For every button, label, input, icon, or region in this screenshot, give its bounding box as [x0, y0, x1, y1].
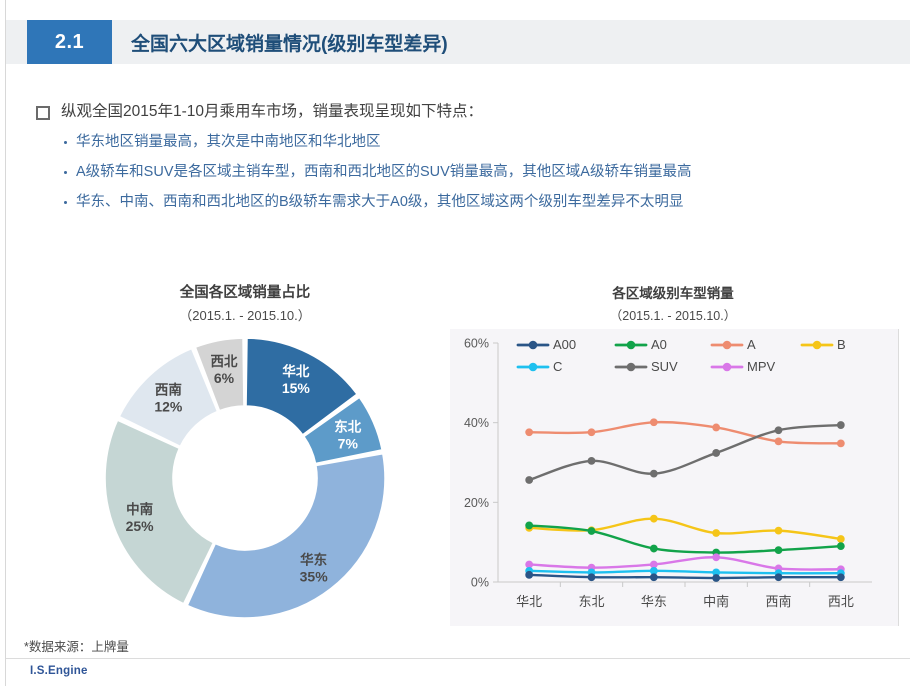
x-tick-label-西南: 西南	[765, 594, 791, 609]
sub-bullet-2-text: A级轿车和SUV是各区域主销车型，西南和西北地区的SUV销量最高，其他区域A级轿…	[76, 162, 691, 183]
x-tick-label-华北: 华北	[516, 594, 542, 609]
line-chart-title: 各区域级别车型销量	[448, 282, 898, 302]
legend-item-B[interactable]: B	[802, 337, 846, 352]
donut-label-中南: 中南25%	[126, 501, 155, 534]
legend-item-A[interactable]: A	[712, 337, 756, 352]
line-chart-plot-area: 0%20%40%60%华北东北华东中南西南西北A00A0ABCSUVMPV	[450, 329, 899, 626]
legend-item-SUV[interactable]: SUV	[616, 359, 678, 374]
dot-bullet-icon	[64, 171, 67, 174]
line-chart-subtitle: （2015.1. - 2015.10.）	[448, 305, 898, 324]
source-note: *数据来源：上牌量	[24, 636, 129, 655]
legend-item-A0[interactable]: A0	[616, 337, 667, 352]
data-point-A0-东北	[588, 527, 596, 535]
data-point-A00-华东	[650, 573, 658, 581]
data-point-SUV-中南	[712, 449, 720, 457]
data-point-B-中南	[712, 529, 720, 537]
lead-bullet: 纵观全国2015年1-10月乘用车市场，销量表现呈现如下特点：	[36, 100, 896, 123]
x-tick-label-华东: 华东	[641, 594, 667, 609]
legend-marker-MPV	[723, 363, 732, 372]
line-chart-svg: 0%20%40%60%华北东北华东中南西南西北A00A0ABCSUVMPV	[450, 329, 898, 626]
legend-label-C: C	[553, 359, 562, 374]
data-point-A-华北	[525, 428, 533, 436]
data-point-A0-西北	[837, 542, 845, 550]
data-point-A-中南	[712, 424, 720, 432]
legend-label-A0: A0	[651, 337, 667, 352]
section-number-badge: 2.1	[27, 20, 112, 64]
sub-bullet-2: A级轿车和SUV是各区域主销车型，西南和西北地区的SUV销量最高，其他区域A级轿…	[64, 162, 896, 183]
legend-label-B: B	[837, 337, 846, 352]
line-series-MPV	[529, 557, 841, 569]
donut-chart-subtitle: （2015.1. - 2015.10.）	[55, 305, 435, 324]
footer-divider	[6, 658, 910, 659]
line-series-A	[529, 422, 841, 443]
legend-marker-B	[813, 341, 822, 350]
data-point-A00-西北	[837, 573, 845, 581]
dot-bullet-icon	[64, 141, 67, 144]
donut-label-西北: 西北6%	[211, 354, 238, 386]
donut-label-华北: 华北15%	[282, 363, 311, 396]
data-point-A-东北	[588, 428, 596, 436]
slide-header: 2.1 全国六大区域销量情况(级别车型差异)	[6, 20, 910, 64]
data-point-SUV-西南	[775, 426, 783, 434]
data-point-A-西北	[837, 439, 845, 447]
sub-bullet-list: 华东地区销量最高，其次是中南地区和华北地区 A级轿车和SUV是各区域主销车型，西…	[64, 132, 896, 213]
sub-bullet-3: 华东、中南、西南和西北地区的B级轿车需求大于A0级，其他区域这两个级别车型差异不…	[64, 192, 896, 213]
legend-label-A00: A00	[553, 337, 576, 352]
x-tick-label-中南: 中南	[703, 594, 729, 609]
dot-bullet-icon	[64, 201, 67, 204]
data-point-A00-西南	[775, 573, 783, 581]
donut-chart-title: 全国各区域销量占比	[55, 282, 435, 304]
data-point-SUV-东北	[588, 457, 596, 465]
legend-label-MPV: MPV	[747, 359, 776, 374]
legend-item-A00[interactable]: A00	[518, 337, 576, 352]
data-point-B-西北	[837, 535, 845, 543]
line-series-C	[529, 571, 841, 573]
y-tick-label: 20%	[464, 496, 489, 510]
donut-canvas: 华北15%东北7%华东35%中南25%西南12%西北6%	[55, 328, 435, 628]
data-point-SUV-华东	[650, 470, 658, 478]
lead-bullet-text: 纵观全国2015年1-10月乘用车市场，销量表现呈现如下特点：	[61, 100, 483, 123]
y-tick-label: 40%	[464, 416, 489, 430]
legend-label-SUV: SUV	[651, 359, 678, 374]
legend-marker-A	[723, 341, 732, 350]
data-point-A-西南	[775, 437, 783, 445]
data-point-A00-华北	[525, 571, 533, 579]
segment-share-line-chart: 各区域级别车型销量 （2015.1. - 2015.10.） 0%20%40%6…	[448, 282, 898, 632]
legend-item-C[interactable]: C	[518, 359, 562, 374]
data-point-A0-华北	[525, 522, 533, 530]
data-point-B-华东	[650, 515, 658, 523]
legend-marker-A00	[529, 341, 538, 350]
data-point-SUV-西北	[837, 421, 845, 429]
legend-marker-C	[529, 363, 538, 372]
page-title: 全国六大区域销量情况(级别车型差异)	[131, 20, 448, 64]
legend-label-A: A	[747, 337, 756, 352]
bullet-list: 纵观全国2015年1-10月乘用车市场，销量表现呈现如下特点： 华东地区销量最高…	[36, 100, 896, 222]
left-edge-rule	[5, 0, 6, 686]
data-point-MPV-中南	[712, 553, 720, 561]
line-series-A00	[529, 575, 841, 578]
donut-slice-中南	[105, 420, 213, 604]
region-share-donut-chart: 全国各区域销量占比 （2015.1. - 2015.10.） 华北15%东北7%…	[55, 282, 435, 627]
brand-logo: I.S.Engine	[30, 665, 88, 677]
line-chart-legend: A00A0ABCSUVMPV	[518, 337, 846, 374]
x-tick-label-东北: 东北	[578, 594, 604, 609]
square-bullet-icon	[36, 106, 50, 120]
sub-bullet-1: 华东地区销量最高，其次是中南地区和华北地区	[64, 132, 896, 153]
data-point-A0-西南	[775, 546, 783, 554]
data-point-B-西南	[775, 527, 783, 535]
x-tick-label-西北: 西北	[828, 594, 854, 609]
slide: 2.1 全国六大区域销量情况(级别车型差异) 纵观全国2015年1-10月乘用车…	[0, 0, 916, 686]
donut-svg: 华北15%东北7%华东35%中南25%西南12%西北6%	[95, 328, 395, 628]
legend-marker-A0	[627, 341, 636, 350]
sub-bullet-1-text: 华东地区销量最高，其次是中南地区和华北地区	[76, 132, 381, 153]
data-point-A00-东北	[588, 573, 596, 581]
donut-label-华东: 华东35%	[300, 551, 329, 584]
sub-bullet-3-text: 华东、中南、西南和西北地区的B级轿车需求大于A0级，其他区域这两个级别车型差异不…	[76, 192, 683, 213]
data-point-SUV-华北	[525, 476, 533, 484]
data-point-A00-中南	[712, 574, 720, 582]
donut-label-西南: 西南12%	[154, 381, 183, 414]
y-tick-label: 0%	[471, 576, 489, 590]
donut-slice-华东	[187, 454, 385, 618]
y-tick-label: 60%	[464, 337, 489, 351]
donut-label-东北: 东北7%	[334, 419, 361, 452]
line-series-A0	[529, 525, 841, 552]
legend-item-MPV[interactable]: MPV	[712, 359, 776, 374]
legend-marker-SUV	[627, 363, 636, 372]
data-point-A-华东	[650, 418, 658, 426]
data-point-A0-华东	[650, 545, 658, 553]
